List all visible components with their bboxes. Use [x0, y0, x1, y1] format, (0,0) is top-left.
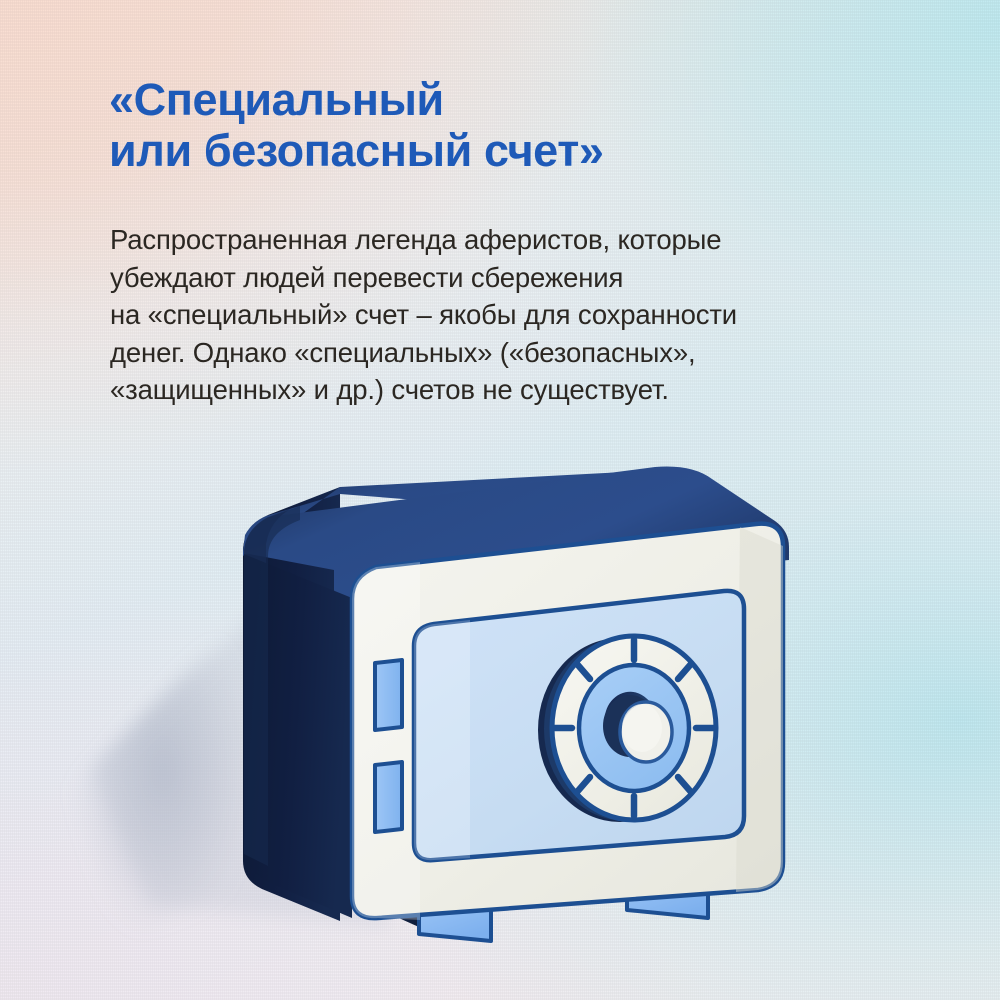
body-paragraph: Распространенная легенда аферистов, кото…: [110, 221, 890, 409]
page-title: «Специальный или безопасный счет»: [109, 74, 899, 176]
